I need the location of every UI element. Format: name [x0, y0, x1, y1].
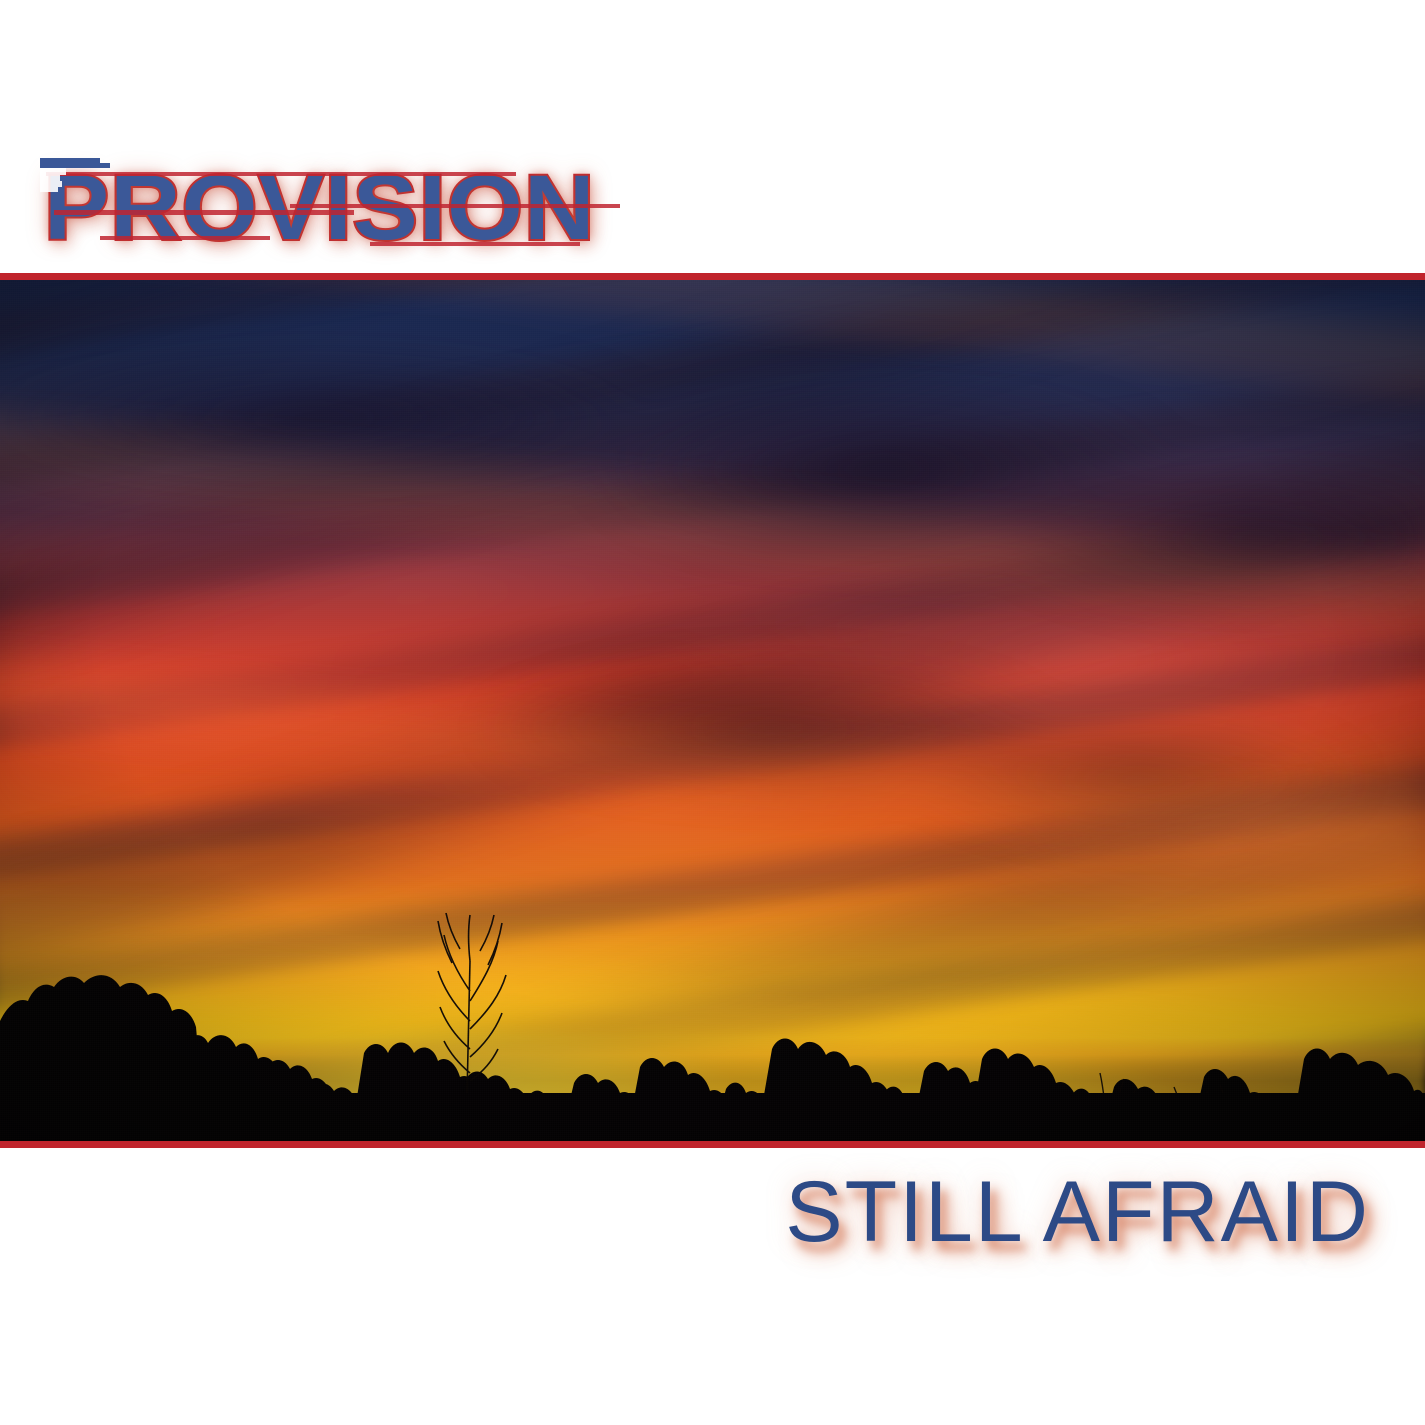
cover-photo-frame	[0, 273, 1425, 1148]
album-cover: PROVISION	[0, 0, 1425, 1425]
logo-area: PROVISION	[0, 0, 1425, 273]
foreground-ground	[0, 1093, 1425, 1141]
album-title-still-afraid: STILL AFRAID	[785, 1164, 1370, 1260]
title-area: STILL AFRAID	[0, 1148, 1425, 1425]
band-logo-provision: PROVISION	[44, 160, 595, 256]
sunset-photograph	[0, 280, 1425, 1141]
